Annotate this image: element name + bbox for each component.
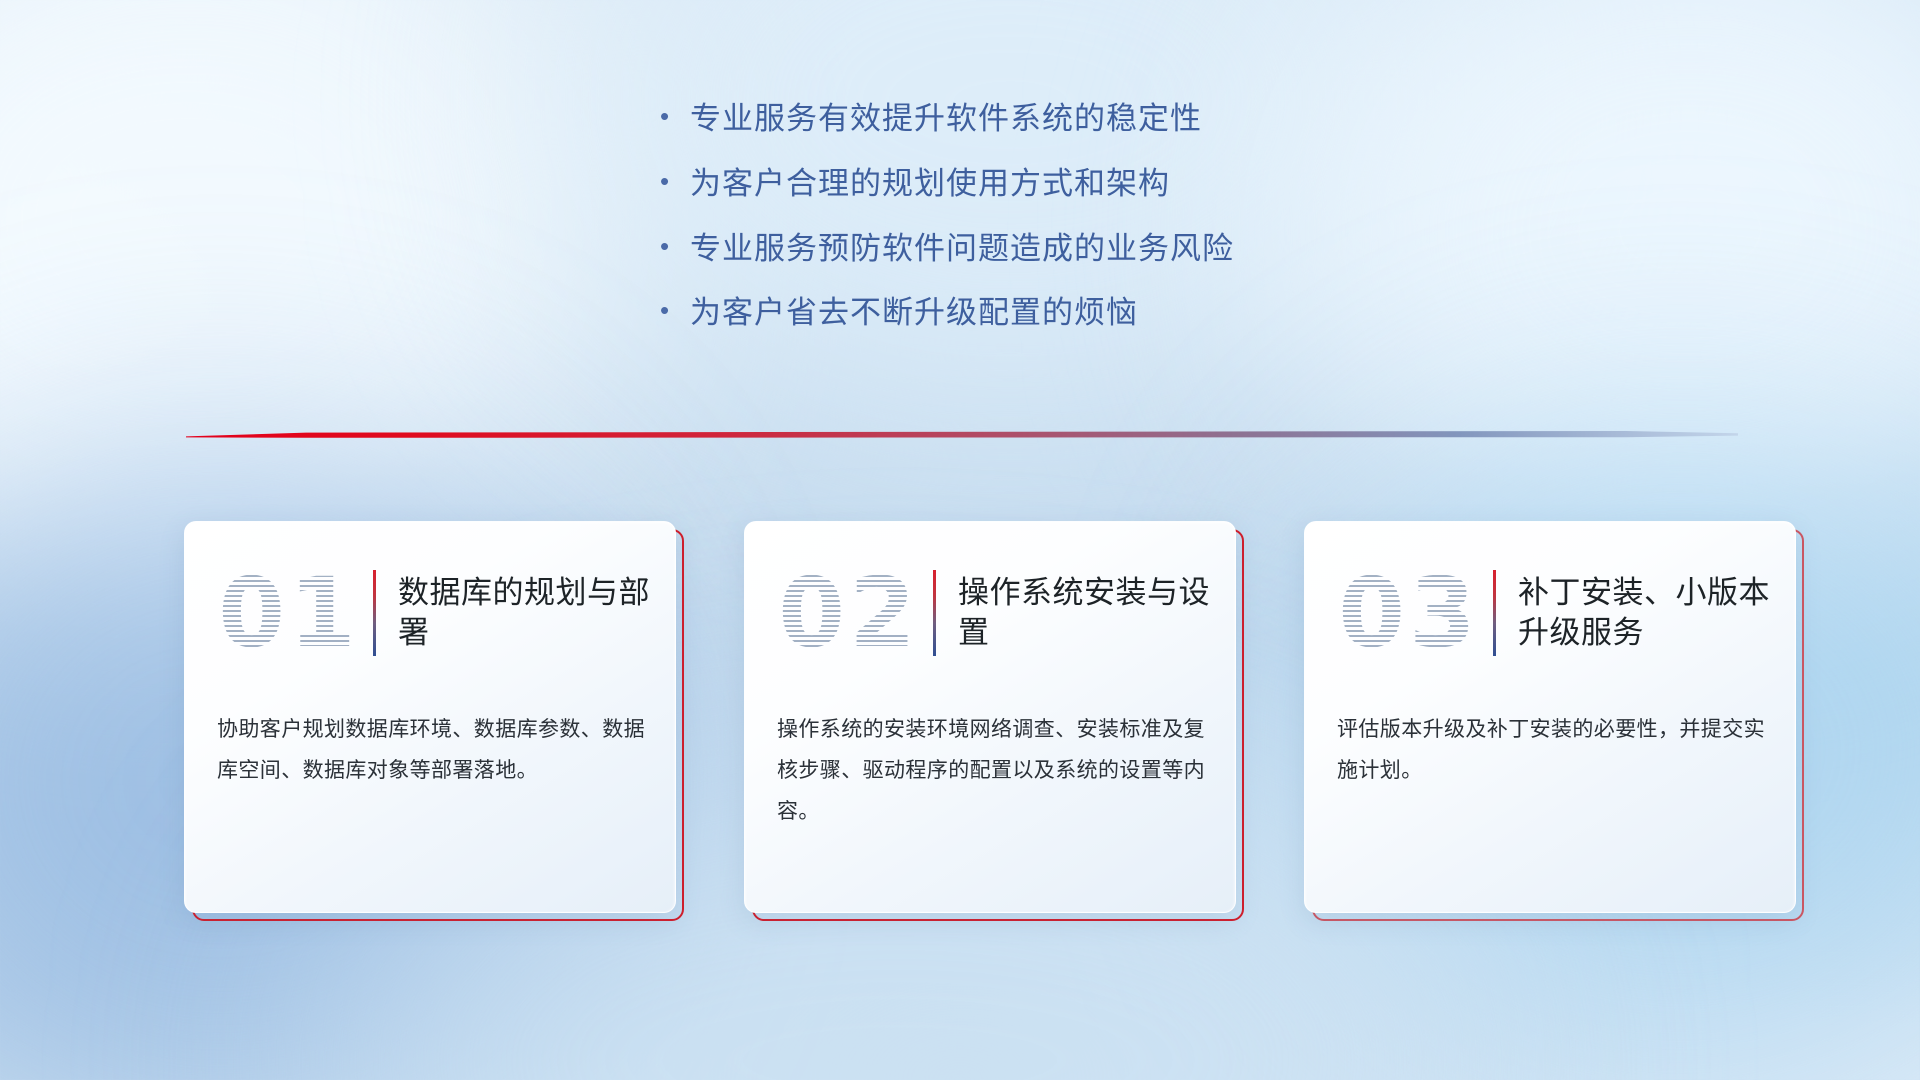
bullet-item-text: 专业服务预防软件问题造成的业务风险	[690, 230, 1234, 269]
section-divider	[186, 427, 1738, 443]
bullet-dot-icon	[660, 103, 690, 129]
service-card-group: 01 数据库的规划与部署 协助客户规划数据库环境、数据库参数、数据库空间、数据库…	[184, 521, 1804, 931]
bullet-item-text: 为客户合理的规划使用方式和架构	[690, 165, 1170, 204]
bullet-item: 为客户合理的规划使用方式和架构	[660, 165, 1480, 204]
card-title: 数据库的规划与部署	[398, 573, 675, 654]
card-header: 03 补丁安装、小版本升级服务	[1305, 538, 1795, 688]
card-title: 补丁安装、小版本升级服务	[1518, 573, 1795, 654]
bullet-item-text: 为客户省去不断升级配置的烦恼	[690, 294, 1138, 333]
card-number-badge: 01	[209, 553, 369, 673]
slide-canvas: 专业服务有效提升软件系统的稳定性 为客户合理的规划使用方式和架构 专业服务预防软…	[0, 0, 1920, 1080]
service-card-02[interactable]: 02 操作系统安装与设置 操作系统的安装环境网络调查、安装标准及复核步骤、驱动程…	[744, 521, 1244, 921]
card-number-badge: 03	[1329, 553, 1489, 673]
card-description: 评估版本升级及补丁安装的必要性，并提交实施计划。	[1337, 710, 1767, 792]
service-card-01[interactable]: 01 数据库的规划与部署 协助客户规划数据库环境、数据库参数、数据库空间、数据库…	[184, 521, 684, 921]
bullet-item: 专业服务有效提升软件系统的稳定性	[660, 100, 1480, 139]
bullet-item: 专业服务预防软件问题造成的业务风险	[660, 230, 1480, 269]
card-number-text: 03	[1338, 565, 1480, 661]
card-divider-rule	[373, 570, 376, 656]
card-number-text: 01	[218, 565, 360, 661]
card-surface: 01 数据库的规划与部署 协助客户规划数据库环境、数据库参数、数据库空间、数据库…	[184, 521, 676, 913]
bullet-dot-icon	[660, 168, 690, 194]
bullet-dot-icon	[660, 233, 690, 259]
card-header: 02 操作系统安装与设置	[745, 538, 1235, 688]
benefits-bullet-list: 专业服务有效提升软件系统的稳定性 为客户合理的规划使用方式和架构 专业服务预防软…	[660, 100, 1480, 359]
card-number-text: 02	[778, 565, 920, 661]
card-title: 操作系统安装与设置	[958, 573, 1235, 654]
card-divider-rule	[933, 570, 936, 656]
bullet-dot-icon	[660, 297, 690, 323]
card-number-badge: 02	[769, 553, 929, 673]
card-surface: 02 操作系统安装与设置 操作系统的安装环境网络调查、安装标准及复核步骤、驱动程…	[744, 521, 1236, 913]
card-divider-rule	[1493, 570, 1496, 656]
bullet-item: 为客户省去不断升级配置的烦恼	[660, 294, 1480, 333]
card-description: 操作系统的安装环境网络调查、安装标准及复核步骤、驱动程序的配置以及系统的设置等内…	[777, 710, 1207, 833]
card-description: 协助客户规划数据库环境、数据库参数、数据库空间、数据库对象等部署落地。	[217, 710, 647, 792]
divider-gradient-shape	[186, 427, 1738, 443]
card-header: 01 数据库的规划与部署	[185, 538, 675, 688]
card-surface: 03 补丁安装、小版本升级服务 评估版本升级及补丁安装的必要性，并提交实施计划。	[1304, 521, 1796, 913]
service-card-03[interactable]: 03 补丁安装、小版本升级服务 评估版本升级及补丁安装的必要性，并提交实施计划。	[1304, 521, 1804, 921]
bullet-item-text: 专业服务有效提升软件系统的稳定性	[690, 100, 1202, 139]
